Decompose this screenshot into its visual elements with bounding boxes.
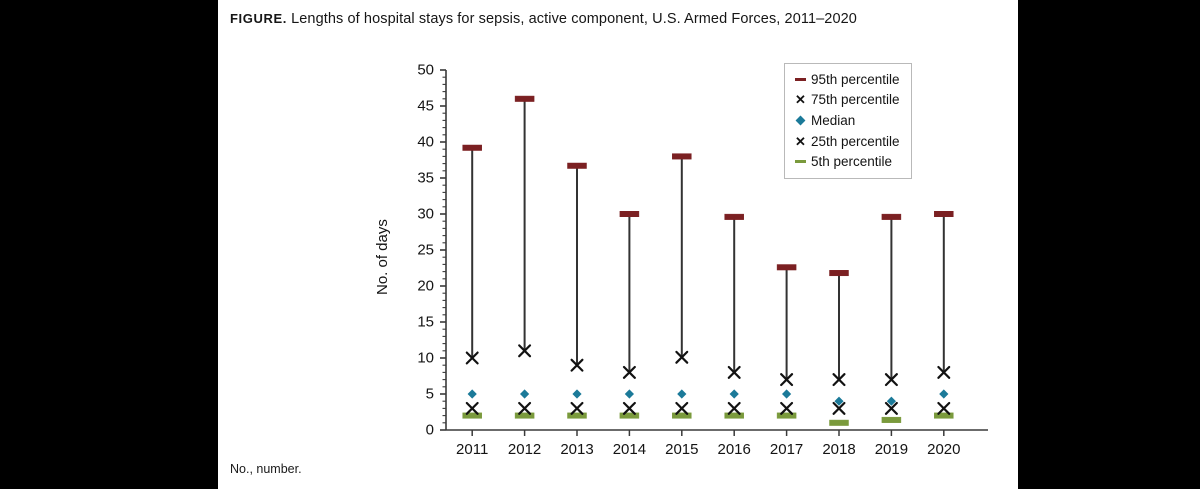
marker-p95-2012 xyxy=(515,96,534,102)
marker-p5-2013 xyxy=(568,413,587,419)
marker-median-2020 xyxy=(939,389,948,398)
marker-p25-2020 xyxy=(938,403,949,414)
marker-p25-2014 xyxy=(624,403,635,414)
marker-p95-2017 xyxy=(777,265,796,271)
legend-item-label: 75th percentile xyxy=(811,92,900,107)
y-axis-tick-label: 0 xyxy=(390,422,434,439)
legend-item-1[interactable]: ✕75th percentile xyxy=(793,90,900,111)
legend-dash-icon xyxy=(793,72,808,86)
diamond-icon xyxy=(796,116,806,126)
marker-median-2015 xyxy=(677,389,686,398)
x-axis-tick-label: 2011 xyxy=(456,441,488,458)
legend-x-icon: ✕ xyxy=(793,134,808,148)
y-axis-tick-label: 10 xyxy=(390,350,434,367)
y-axis-tick-label: 15 xyxy=(390,314,434,331)
marker-p5-2017 xyxy=(777,413,796,419)
marker-p95-2020 xyxy=(934,211,953,217)
y-axis-tick-label: 35 xyxy=(390,170,434,187)
marker-p5-2014 xyxy=(620,413,639,419)
marker-p5-2012 xyxy=(515,413,534,419)
x-icon: ✕ xyxy=(795,135,806,148)
x-axis-tick-label: 2014 xyxy=(613,441,646,458)
marker-median-2017 xyxy=(782,389,791,398)
marker-p95-2018 xyxy=(830,270,849,276)
y-axis-tick-label: 45 xyxy=(390,98,434,115)
marker-p25-2017 xyxy=(781,403,792,414)
marker-p95-2014 xyxy=(620,211,639,217)
legend-dash-icon xyxy=(793,155,808,169)
marker-p25-2016 xyxy=(729,403,740,414)
y-axis-tick-label: 20 xyxy=(390,278,434,295)
marker-p95-2019 xyxy=(882,214,901,220)
x-axis-tick-label: 2013 xyxy=(560,441,593,458)
marker-median-2012 xyxy=(520,389,529,398)
x-axis-tick-label: 2020 xyxy=(927,441,960,458)
y-axis-tick-label: 5 xyxy=(390,386,434,403)
figure-panel: FIGURE. Lengths of hospital stays for se… xyxy=(218,0,1018,489)
marker-p95-2015 xyxy=(672,154,691,160)
legend-item-2[interactable]: Median xyxy=(793,110,900,131)
y-axis-tick-label: 40 xyxy=(390,134,434,151)
dash-icon xyxy=(795,160,806,164)
figure-footnote: No., number. xyxy=(230,462,302,476)
x-icon: ✕ xyxy=(795,93,806,106)
marker-p5-2015 xyxy=(672,413,691,419)
x-axis-tick-label: 2019 xyxy=(875,441,908,458)
x-axis-tick-label: 2012 xyxy=(508,441,541,458)
y-axis-tick-label: 25 xyxy=(390,242,434,259)
dash-icon xyxy=(795,78,806,82)
marker-p95-2013 xyxy=(568,163,587,169)
marker-p25-2011 xyxy=(467,403,478,414)
chart-legend: 95th percentile✕75th percentileMedian✕25… xyxy=(784,63,912,179)
x-axis-tick-label: 2015 xyxy=(665,441,698,458)
marker-p25-2015 xyxy=(676,403,687,414)
marker-median-2016 xyxy=(730,389,739,398)
marker-p25-2012 xyxy=(519,403,530,414)
marker-median-2013 xyxy=(572,389,581,398)
x-axis-tick-label: 2018 xyxy=(822,441,855,458)
marker-p5-2019 xyxy=(882,417,901,423)
x-axis-tick-label: 2017 xyxy=(770,441,803,458)
marker-p5-2018 xyxy=(830,420,849,426)
legend-item-0[interactable]: 95th percentile xyxy=(793,69,900,90)
legend-item-4[interactable]: 5th percentile xyxy=(793,151,900,172)
marker-p95-2016 xyxy=(725,214,744,220)
marker-p5-2011 xyxy=(463,413,482,419)
legend-item-label: Median xyxy=(811,113,855,128)
legend-item-label: 95th percentile xyxy=(811,72,900,87)
legend-item-3[interactable]: ✕25th percentile xyxy=(793,131,900,152)
marker-p95-2011 xyxy=(463,145,482,151)
legend-x-icon: ✕ xyxy=(793,93,808,107)
legend-item-label: 25th percentile xyxy=(811,134,900,149)
marker-p5-2020 xyxy=(934,413,953,419)
marker-p5-2016 xyxy=(725,413,744,419)
y-axis-title: No. of days xyxy=(374,219,391,295)
x-axis-tick-label: 2016 xyxy=(718,441,751,458)
marker-median-2014 xyxy=(625,389,634,398)
marker-p25-2013 xyxy=(572,403,583,414)
y-axis-tick-label: 30 xyxy=(390,206,434,223)
legend-diamond-icon xyxy=(793,113,808,127)
y-axis-tick-label: 50 xyxy=(390,62,434,79)
marker-median-2011 xyxy=(468,389,477,398)
legend-item-label: 5th percentile xyxy=(811,154,892,169)
